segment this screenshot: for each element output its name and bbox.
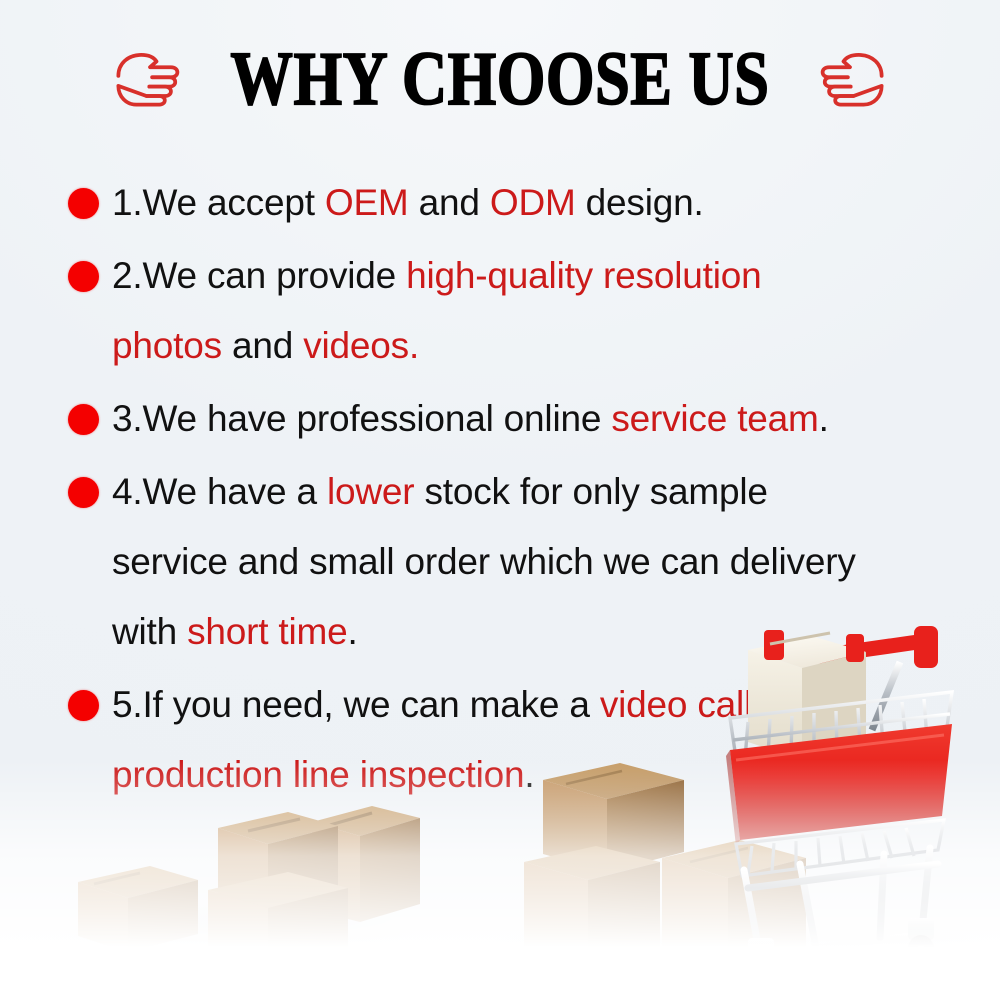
benefit-item: 3.We have professional online service te… [0,384,1000,454]
pointing-hand-right-icon [109,47,181,109]
highlight-text: video call [600,684,752,725]
benefit-line: 3.We have professional online service te… [112,384,1000,454]
benefit-line: 5.If you need, we can make a video call … [112,670,1000,740]
cardboard-box [662,840,806,980]
benefit-line: production line inspection. [112,740,1000,810]
benefit-line: service and small order which we can del… [112,527,1000,597]
benefit-item: 1.We accept OEM and ODM design. [0,168,1000,238]
cart-frame [744,848,938,956]
highlight-text: videos. [303,325,419,366]
bullet-dot-icon [68,404,99,435]
cardboard-box [312,806,420,922]
bullet-dot-icon [68,188,99,219]
bullet-dot-icon [68,690,99,721]
bullet-dot-icon [68,261,99,292]
highlight-text: short time [187,611,347,652]
benefit-item: 2.We can provide high-quality resolution… [0,241,1000,381]
benefit-line: 2.We can provide high-quality resolution [112,241,1000,311]
body-text: with [112,611,187,652]
cart-wheel [907,918,935,969]
body-text: . [348,611,358,652]
benefit-line: 4.We have a lower stock for only sample [112,457,1000,527]
benefit-item: 5.If you need, we can make a video call … [0,670,1000,810]
cardboard-box [524,846,660,978]
body-text: 2.We can provide [112,255,406,296]
bullet-dot-icon [68,477,99,508]
shadow [475,926,805,978]
header: WHY CHOOSE US [0,38,1000,118]
highlight-text: lower [327,471,414,512]
benefit-item: 4.We have a lower stock for only samples… [0,457,1000,667]
body-text: stock for only sample [414,471,767,512]
body-text: and [409,182,490,223]
why-choose-us-banner: WHY CHOOSE US 1.We accept OEM and ODM de… [0,0,1000,1000]
page-title: WHY CHOOSE US [230,40,769,116]
benefit-line: with short time. [112,597,1000,667]
cardboard-box-group-left [78,806,420,968]
pointing-hand-left-icon [819,47,891,109]
body-text: and [222,325,303,366]
body-text: . [524,754,534,795]
benefit-line: photos and videos. [112,311,1000,381]
body-text: design. [576,182,704,223]
highlight-text: high-quality resolution [406,255,761,296]
benefits-list: 1.We accept OEM and ODM design.2.We can … [0,168,1000,813]
body-text: service and small order which we can del… [112,541,856,582]
shadow [755,928,995,968]
cardboard-box [208,872,348,968]
highlight-text: service team [611,398,818,439]
body-text: . [819,398,829,439]
highlight-text: production line inspection [112,754,524,795]
shadow [65,904,415,956]
highlight-text: ODM [490,182,576,223]
benefit-line: 1.We accept OEM and ODM design. [112,168,1000,238]
highlight-text: OEM [325,182,409,223]
body-text: 3.We have professional online [112,398,611,439]
cardboard-box [78,866,198,952]
cardboard-box [218,812,338,922]
body-text: 5.If you need, we can make a [112,684,600,725]
body-text: 1.We accept [112,182,325,223]
body-text: 4.We have a [112,471,327,512]
body-text: for [752,684,805,725]
cart-wheel [747,938,775,989]
cart-lower-tray [736,820,944,876]
highlight-text: photos [112,325,222,366]
